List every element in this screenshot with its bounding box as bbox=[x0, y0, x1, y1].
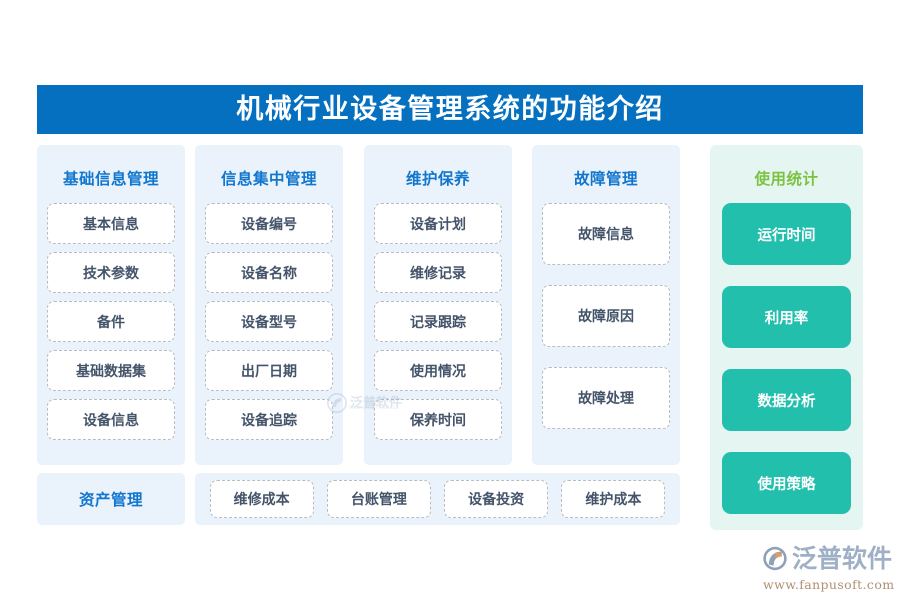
feature-card[interactable]: 技术参数 bbox=[47, 252, 175, 293]
feature-card[interactable]: 设备编号 bbox=[205, 203, 333, 244]
asset-management-row: 资产管理 维修成本 台账管理 设备投资 维护成本 bbox=[37, 473, 680, 525]
column-maintenance: 维护保养 设备计划 维修记录 记录跟踪 使用情况 保养时间 bbox=[364, 145, 512, 465]
column-header: 维护保养 bbox=[364, 145, 512, 203]
brand-name: 泛普软件 bbox=[792, 546, 892, 571]
column-header: 信息集中管理 bbox=[195, 145, 343, 203]
asset-card[interactable]: 维修成本 bbox=[210, 480, 314, 518]
column-item-list: 设备计划 维修记录 记录跟踪 使用情况 保养时间 bbox=[364, 203, 512, 452]
page-title: 机械行业设备管理系统的功能介绍 bbox=[236, 96, 664, 123]
feature-card[interactable]: 基础数据集 bbox=[47, 350, 175, 391]
feature-card[interactable]: 使用情况 bbox=[374, 350, 502, 391]
infographic-root: 机械行业设备管理系统的功能介绍 基础信息管理 基本信息 技术参数 备件 基础数据… bbox=[0, 0, 900, 600]
feature-card[interactable]: 设备追踪 bbox=[205, 399, 333, 440]
column-header: 故障管理 bbox=[532, 145, 680, 203]
feature-card[interactable]: 设备信息 bbox=[47, 399, 175, 440]
feature-card[interactable]: 故障处理 bbox=[542, 367, 670, 429]
feature-card[interactable]: 基本信息 bbox=[47, 203, 175, 244]
usage-card[interactable]: 使用策略 bbox=[722, 452, 851, 514]
column-header: 使用统计 bbox=[710, 145, 863, 203]
asset-card[interactable]: 设备投资 bbox=[444, 480, 548, 518]
column-usage-statistics: 使用统计 运行时间 利用率 数据分析 使用策略 bbox=[710, 145, 863, 530]
feature-card[interactable]: 记录跟踪 bbox=[374, 301, 502, 342]
feature-card[interactable]: 设备名称 bbox=[205, 252, 333, 293]
asset-label-panel: 资产管理 bbox=[37, 473, 185, 525]
feature-card[interactable]: 故障原因 bbox=[542, 285, 670, 347]
column-fault-management: 故障管理 故障信息 故障原因 故障处理 bbox=[532, 145, 680, 465]
feature-card[interactable]: 出厂日期 bbox=[205, 350, 333, 391]
feature-card[interactable]: 保养时间 bbox=[374, 399, 502, 440]
asset-card[interactable]: 台账管理 bbox=[327, 480, 431, 518]
asset-management-label: 资产管理 bbox=[79, 488, 143, 510]
feature-card[interactable]: 故障信息 bbox=[542, 203, 670, 265]
column-header: 基础信息管理 bbox=[37, 145, 185, 203]
brand-row: 泛普软件 bbox=[762, 542, 892, 575]
column-centralized-info: 信息集中管理 设备编号 设备名称 设备型号 出厂日期 设备追踪 bbox=[195, 145, 343, 465]
fanpu-mark-icon bbox=[762, 543, 788, 574]
usage-card[interactable]: 数据分析 bbox=[722, 369, 851, 431]
column-basic-info: 基础信息管理 基本信息 技术参数 备件 基础数据集 设备信息 bbox=[37, 145, 185, 465]
column-item-list: 运行时间 利用率 数据分析 使用策略 bbox=[710, 203, 863, 526]
feature-card[interactable]: 设备型号 bbox=[205, 301, 333, 342]
column-item-list: 故障信息 故障原因 故障处理 bbox=[532, 203, 680, 441]
asset-card[interactable]: 维护成本 bbox=[561, 480, 665, 518]
feature-card[interactable]: 设备计划 bbox=[374, 203, 502, 244]
asset-items-panel: 维修成本 台账管理 设备投资 维护成本 bbox=[195, 473, 680, 525]
brand-url: www.fanpusoft.com bbox=[763, 577, 892, 592]
usage-card[interactable]: 利用率 bbox=[722, 286, 851, 348]
column-item-list: 基本信息 技术参数 备件 基础数据集 设备信息 bbox=[37, 203, 185, 452]
title-banner: 机械行业设备管理系统的功能介绍 bbox=[37, 85, 863, 134]
feature-card[interactable]: 备件 bbox=[47, 301, 175, 342]
column-item-list: 设备编号 设备名称 设备型号 出厂日期 设备追踪 bbox=[195, 203, 343, 452]
feature-card[interactable]: 维修记录 bbox=[374, 252, 502, 293]
brand-logo: 泛普软件 www.fanpusoft.com bbox=[762, 542, 892, 594]
usage-card[interactable]: 运行时间 bbox=[722, 203, 851, 265]
